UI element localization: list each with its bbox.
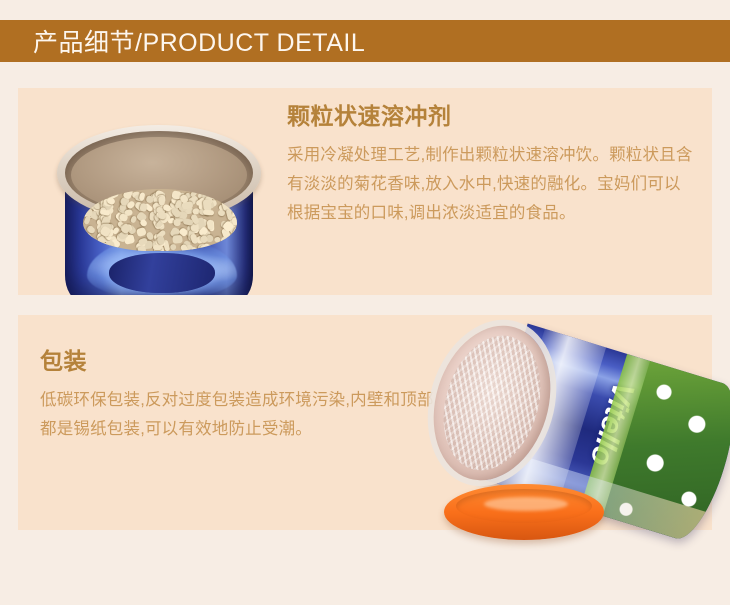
product-detail-page: 产品细节/PRODUCT DETAIL 颗粒状速溶冲剂 采用冷凝处理工艺,制作出… bbox=[0, 0, 730, 605]
granule-body-text: 采用冷凝处理工艺,制作出颗粒状速溶冲饮。颗粒状且含有淡淡的菊花香味,放入水中,快… bbox=[287, 141, 697, 229]
section-header-bar: 产品细节/PRODUCT DETAIL bbox=[0, 20, 730, 62]
granule-heading: 颗粒状速溶冲剂 bbox=[287, 103, 697, 131]
can-logo-core bbox=[109, 253, 215, 293]
page-title: 产品细节/PRODUCT DETAIL bbox=[33, 23, 365, 59]
orange-lid bbox=[444, 484, 604, 540]
product-photo-lying-can: Vitello bbox=[408, 318, 730, 548]
detail-panel-granule: 颗粒状速溶冲剂 采用冷凝处理工艺,制作出颗粒状速溶冲饮。颗粒状且含有淡淡的菊花香… bbox=[18, 88, 712, 295]
granule-text-block: 颗粒状速溶冲剂 采用冷凝处理工艺,制作出颗粒状速溶冲饮。颗粒状且含有淡淡的菊花香… bbox=[287, 103, 697, 229]
packaging-body-text: 低碳环保包装,反对过度包装造成环境污染,内壁和顶部都是锡纸包装,可以有效地防止受… bbox=[40, 386, 440, 445]
product-photo-open-can bbox=[55, 93, 263, 295]
orange-lid-highlight bbox=[484, 497, 568, 511]
granule-pile bbox=[83, 189, 237, 251]
packaging-text-block: 包装 低碳环保包装,反对过度包装造成环境污染,内壁和顶部都是锡纸包装,可以有效地… bbox=[40, 348, 440, 444]
packaging-heading: 包装 bbox=[40, 348, 440, 376]
orange-lid-inner bbox=[456, 489, 592, 523]
